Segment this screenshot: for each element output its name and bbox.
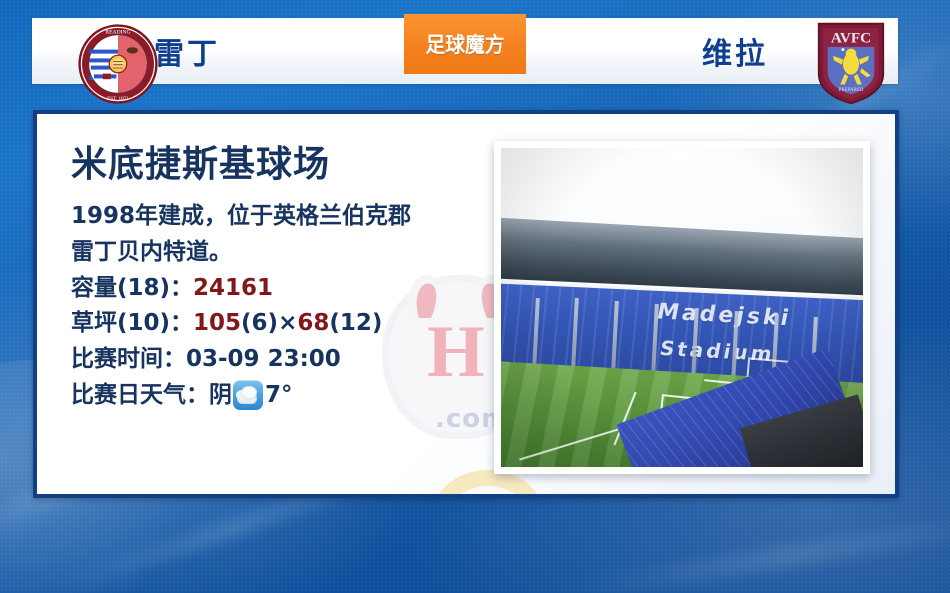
brand-logo-text: 足球魔方: [426, 29, 505, 59]
watermark-yellow-ring: [429, 470, 547, 498]
capacity-separator: ：: [170, 275, 193, 301]
match-time-value: 03-09 23:00: [186, 346, 341, 372]
stadium-description-line-2: 雷丁贝内特道。: [71, 235, 471, 271]
stadium-description-line-1: 1998年建成，位于英格兰伯克郡: [71, 199, 471, 235]
photo-vignette: [501, 148, 863, 467]
stadium-photo-frame: Madejski Stadium: [494, 141, 870, 474]
stadium-title: 米底捷斯基球场: [71, 144, 471, 185]
pitch-width: 68: [297, 310, 329, 336]
stadium-info-panel: H .com 欢呼 米底捷斯基球场 1998年建成，位于英格兰伯克郡 雷丁贝内特…: [33, 110, 899, 498]
pitch-length-rank: (6): [241, 310, 278, 336]
weather-label: 比赛日天气: [71, 378, 186, 414]
capacity-value: 24161: [193, 275, 273, 301]
page-background: READING EST. 1871 雷丁 足球魔方 维拉 AVFC: [0, 0, 950, 593]
home-team-name: 雷丁: [154, 29, 220, 73]
weather-separator: ：: [186, 378, 209, 414]
pitch-length: 105: [193, 310, 241, 336]
pitch-label: 草坪(10): [71, 310, 170, 336]
pitch-row: 草坪(10)：105(6)×68(12): [71, 306, 471, 342]
pitch-separator: ：: [170, 310, 193, 336]
svg-text:AVFC: AVFC: [831, 29, 871, 46]
pitch-times-symbol: ×: [278, 310, 297, 336]
stadium-photo: Madejski Stadium: [501, 148, 863, 467]
weather-temperature: 7°: [265, 378, 293, 414]
pitch-width-rank: (12): [329, 310, 382, 336]
match-time-label: 比赛时间: [71, 346, 163, 372]
capacity-row: 容量(18)：24161: [71, 271, 471, 307]
svg-text:READING: READING: [105, 30, 130, 36]
match-header-bar: READING EST. 1871 雷丁 足球魔方 维拉 AVFC: [32, 18, 898, 84]
cloudy-icon: [233, 380, 263, 410]
brand-logo[interactable]: 足球魔方: [404, 14, 526, 74]
stadium-info-column: 米底捷斯基球场 1998年建成，位于英格兰伯克郡 雷丁贝内特道。 容量(18)：…: [71, 144, 471, 413]
match-time-separator: ：: [163, 346, 186, 372]
svg-text:PREPARED: PREPARED: [839, 88, 864, 93]
background-streak: [561, 509, 950, 593]
capacity-label: 容量(18): [71, 275, 170, 301]
weather-row: 比赛日天气：阴7°: [71, 378, 471, 414]
svg-text:EST. 1871: EST. 1871: [107, 96, 129, 102]
aston-villa-crest-icon: AVFC PREPARED: [814, 20, 888, 106]
match-time-row: 比赛时间：03-09 23:00: [71, 342, 471, 378]
weather-condition: 阴: [209, 378, 232, 414]
watermark-cheer-text: 欢呼: [334, 477, 524, 498]
reading-fc-crest-icon: READING EST. 1871: [78, 24, 158, 104]
away-team-name: 维拉: [702, 29, 768, 73]
